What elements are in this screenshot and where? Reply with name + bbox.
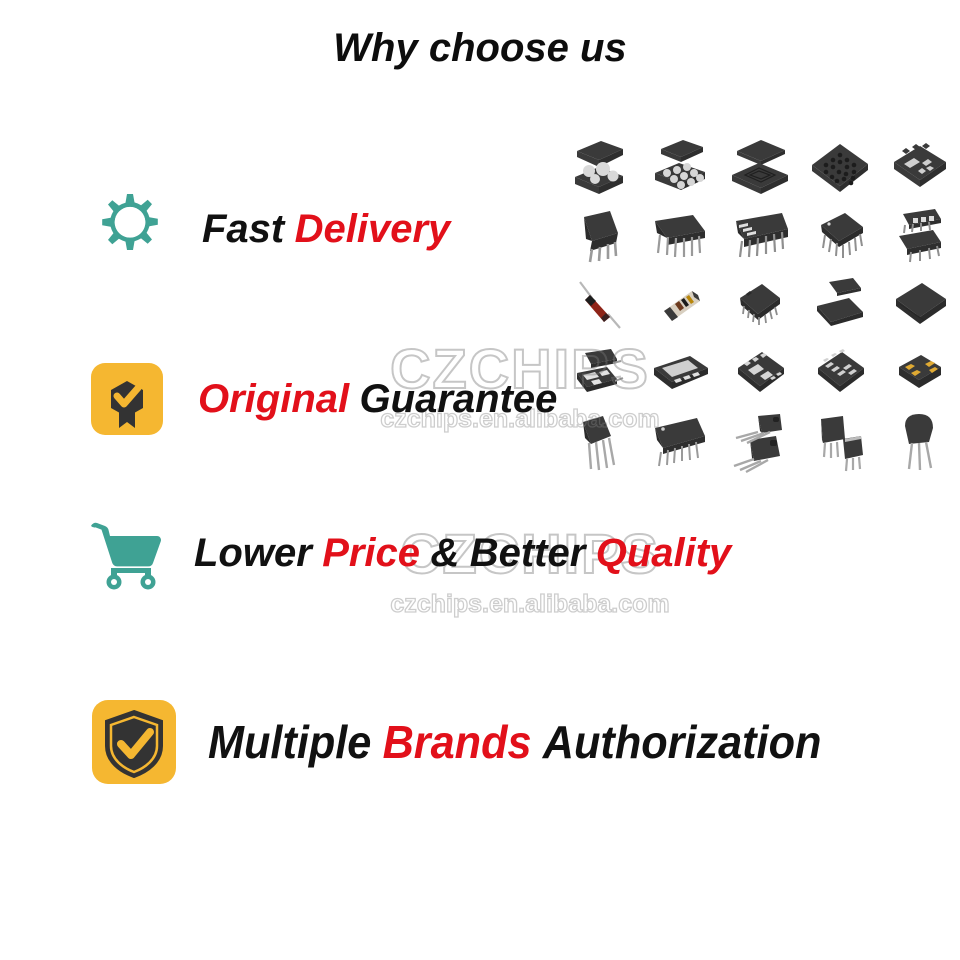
chip-bga-large-ball-array — [800, 132, 880, 201]
chip-to-92-transistor — [560, 408, 640, 477]
chip-bga-flat-large — [880, 270, 960, 339]
feature-word: Price — [322, 531, 420, 575]
feature-word: Fast — [202, 207, 284, 251]
chip-melf-resistor — [640, 270, 720, 339]
chip-to-220-pair — [720, 408, 800, 477]
feature-text-lower-price-better-quality: LowerPrice&BetterQuality — [194, 533, 731, 573]
chip-qfp-package — [800, 201, 880, 270]
watermark-url: czchips.en.alibaba.com — [380, 590, 680, 619]
chip-qfn-20-package — [800, 339, 880, 408]
chip-sip-module — [640, 408, 720, 477]
chip-qfn-multi-pad — [880, 132, 960, 201]
chip-to-263-pair — [800, 408, 880, 477]
feature-word: Delivery — [295, 207, 451, 251]
why-choose-us-banner: Why choose us — [0, 0, 960, 960]
chip-dip-4-optocoupler — [560, 201, 640, 270]
shopping-cart-icon — [86, 512, 168, 594]
feature-word: Lower — [194, 531, 312, 575]
chip-smd-gold-pad-package — [880, 339, 960, 408]
component-collage — [560, 132, 960, 477]
feature-word: Multiple — [208, 716, 371, 768]
chip-axial-diode — [560, 270, 640, 339]
chip-bga-ball-grid-array — [640, 132, 720, 201]
feature-row-original-guarantee: OriginalGuarantee — [86, 358, 557, 440]
chip-sot-package-pair — [560, 339, 640, 408]
feature-row-fast-delivery: FastDelivery — [86, 188, 450, 270]
feature-text-multiple-brands-authorization: MultipleBrandsAuthorization — [208, 719, 821, 765]
feature-word: Better — [470, 531, 586, 575]
chip-qfn-16-package — [720, 339, 800, 408]
chip-plcc-package — [720, 270, 800, 339]
gear-icon — [86, 188, 168, 270]
chip-to-92-round-transistor — [880, 408, 960, 477]
chip-dip-wide-package — [720, 201, 800, 270]
feature-text-original-guarantee: OriginalGuarantee — [198, 379, 557, 419]
feature-word: Authorization — [543, 716, 822, 768]
chip-soic-pair — [880, 201, 960, 270]
feature-word: Original — [198, 377, 349, 421]
chip-dfn-8-package — [640, 339, 720, 408]
feature-word: Brands — [383, 716, 532, 768]
chip-qfp-flat-pair — [800, 270, 880, 339]
feature-word: & — [430, 531, 459, 575]
badge-check-icon — [86, 358, 168, 440]
shield-check-icon — [86, 694, 182, 790]
feature-row-lower-price-better-quality: LowerPrice&BetterQuality — [86, 512, 731, 594]
chip-bga-substrate-pair — [720, 132, 800, 201]
feature-row-multiple-brands-authorization: MultipleBrandsAuthorization — [86, 694, 861, 790]
feature-word: Quality — [596, 531, 732, 575]
feature-word: Guarantee — [360, 377, 558, 421]
feature-text-fast-delivery: FastDelivery — [202, 209, 450, 249]
chip-bga-package-exploded — [560, 132, 640, 201]
page-title: Why choose us — [0, 26, 960, 71]
chip-dip-16-package — [640, 201, 720, 270]
